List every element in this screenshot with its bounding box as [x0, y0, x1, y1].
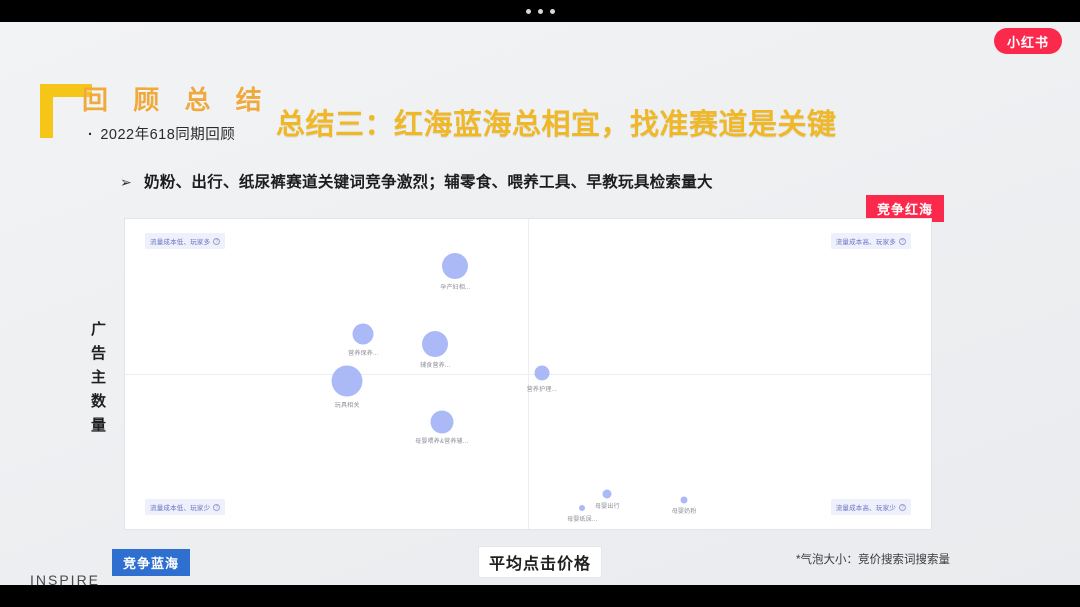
info-icon[interactable]: ?: [899, 504, 906, 511]
quadrant-label-bottom-right: 流量成本高、玩家少 ?: [831, 499, 911, 515]
y-axis-label: 广告主数量: [88, 318, 110, 438]
eyebrow-subtitle: 2022年618同期回顾: [88, 123, 235, 144]
notch-dot-icon: [526, 9, 531, 14]
inspire-lives-mark: INSPIRE LIVES: [30, 571, 100, 585]
bubble-label: 孕产妇相...: [440, 282, 470, 291]
quadrant-label-bottom-left: 流量成本低、玩家少 ?: [145, 499, 225, 515]
info-icon[interactable]: ?: [213, 238, 220, 245]
chart-horizontal-axis: [125, 374, 931, 375]
bubble-label: 辅食营养...: [420, 360, 450, 369]
notch-dot-icon: [550, 9, 555, 14]
xiaohongshu-logo: 小红书: [994, 28, 1062, 54]
bubble-label: 母婴纸尿...: [567, 514, 597, 523]
info-icon[interactable]: ?: [213, 504, 220, 511]
bubble-label: 营养保养...: [348, 348, 378, 357]
slide-canvas: 小红书 回 顾 总 结 2022年618同期回顾 总结三：红海蓝海总相宜，找准赛…: [0, 22, 1080, 585]
bubble-label: 玩具相关: [335, 400, 360, 409]
bubble-label: 营养护理...: [527, 384, 557, 393]
bubble-label: 母婴奶粉: [672, 506, 697, 515]
bullet-arrow-icon: ➢: [120, 174, 132, 190]
quadrant-text: 流量成本高、玩家多: [836, 236, 896, 246]
quadrant-text: 流量成本高、玩家少: [836, 502, 896, 512]
bubble-point[interactable]: [579, 505, 585, 511]
bubble-point[interactable]: [534, 366, 549, 381]
notch-dot-icon: [538, 9, 543, 14]
bubble-point[interactable]: [430, 410, 453, 433]
quadrant-text: 流量成本低、玩家多: [150, 236, 210, 246]
bubble-label: 母婴喂养&营养辅...: [415, 436, 468, 445]
quadrant-label-top-left: 流量成本低、玩家多 ?: [145, 233, 225, 249]
quadrant-label-top-right: 流量成本高、玩家多 ?: [831, 233, 911, 249]
bubble-point[interactable]: [332, 366, 363, 397]
bullet-text: 奶粉、出行、纸尿裤赛道关键词竞争激烈；辅零食、喂养工具、早教玩具检索量大: [144, 174, 713, 191]
video-top-bar: [0, 0, 1080, 22]
chart-footnote: *气泡大小：竞价搜索词搜索量: [796, 551, 950, 567]
quadrant-text: 流量成本低、玩家少: [150, 502, 210, 512]
bubble-point[interactable]: [603, 489, 612, 498]
bubble-point[interactable]: [442, 253, 468, 279]
bubble-label: 母婴出行: [595, 501, 620, 510]
bubble-point[interactable]: [422, 331, 448, 357]
camera-notch: [462, 0, 618, 22]
eyebrow-title: 回 顾 总 结: [82, 80, 271, 117]
page-title: 总结三：红海蓝海总相宜，找准赛道是关键: [276, 101, 837, 143]
bubble-point[interactable]: [681, 496, 688, 503]
inspire-line-1: INSPIRE: [30, 571, 100, 585]
status-badge-blue-ocean: 竞争蓝海: [112, 549, 190, 576]
bubble-point[interactable]: [353, 324, 374, 345]
video-bottom-bar: [0, 585, 1080, 607]
x-axis-label: 平均点击价格: [478, 546, 602, 578]
screenshot-root: 小红书 回 顾 总 结 2022年618同期回顾 总结三：红海蓝海总相宜，找准赛…: [0, 0, 1080, 607]
info-icon[interactable]: ?: [899, 238, 906, 245]
bullet-line: ➢奶粉、出行、纸尿裤赛道关键词竞争激烈；辅零食、喂养工具、早教玩具检索量大: [120, 170, 713, 192]
bubble-chart: 流量成本低、玩家多 ? 流量成本高、玩家多 ? 流量成本低、玩家少 ? 流量成本…: [124, 218, 932, 530]
